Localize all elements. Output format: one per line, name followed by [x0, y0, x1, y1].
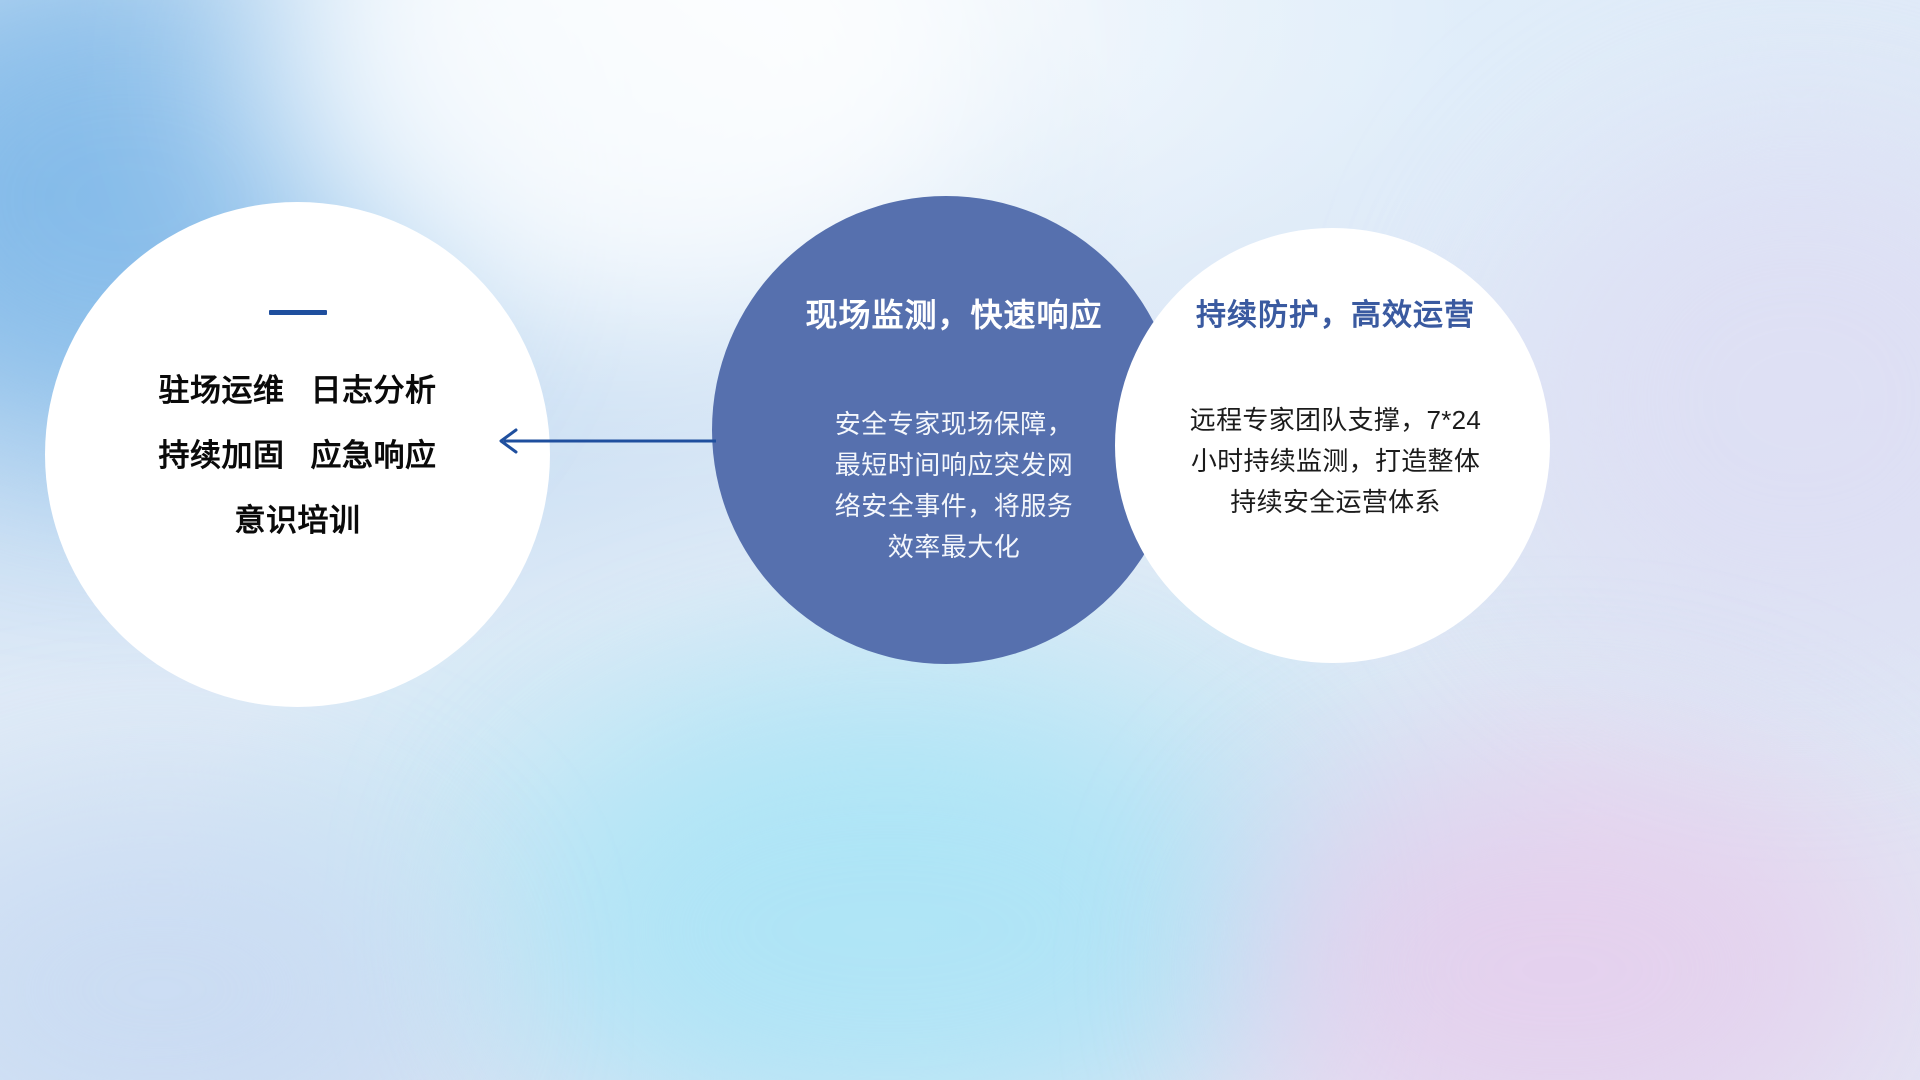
divider-rule-icon	[269, 310, 327, 315]
capability-row-2: 持续加固应急响应	[71, 440, 524, 471]
middle-body-line: 络安全事件，将服务	[758, 486, 1150, 527]
middle-body-line: 安全专家现场保障，	[758, 404, 1150, 445]
right-body-line: 持续安全运营体系	[1133, 482, 1538, 523]
right-circle-content: 持续防护，高效运营 远程专家团队支撑，7*24 小时持续监测，打造整体 持续安全…	[1133, 290, 1538, 523]
middle-body-line: 最短时间响应突发网	[758, 445, 1150, 486]
right-circle-body: 远程专家团队支撑，7*24 小时持续监测，打造整体 持续安全运营体系	[1133, 400, 1538, 523]
background-glow-bottom-left	[0, 820, 440, 1080]
right-body-line: 远程专家团队支撑，7*24	[1133, 400, 1538, 441]
middle-circle-content: 现场监测，快速响应 安全专家现场保障， 最短时间响应突发网 络安全事件，将服务 …	[758, 290, 1150, 568]
middle-circle-heading: 现场监测，快速响应	[758, 290, 1150, 336]
left-circle-content: 驻场运维日志分析 持续加固应急响应 意识培训	[45, 310, 550, 536]
middle-onsite-monitoring-circle[interactable]: 现场监测，快速响应 安全专家现场保障， 最短时间响应突发网 络安全事件，将服务 …	[712, 196, 1180, 664]
right-continuous-protection-circle[interactable]: 持续防护，高效运营 远程专家团队支撑，7*24 小时持续监测，打造整体 持续安全…	[1115, 228, 1550, 663]
arrow-left-icon	[488, 418, 718, 464]
slide-canvas: 驻场运维日志分析 持续加固应急响应 意识培训 现场监测，快速响应 安全专家现场保…	[0, 0, 1920, 1080]
right-body-line: 小时持续监测，打造整体	[1133, 441, 1538, 482]
capability-label-onsite-ops: 驻场运维	[159, 373, 285, 408]
capability-label-continuous-hardening: 持续加固	[159, 438, 285, 473]
capability-row-1: 驻场运维日志分析	[71, 375, 524, 406]
background-glow-bottom-right	[1250, 760, 1870, 1080]
right-circle-heading: 持续防护，高效运营	[1133, 290, 1538, 334]
capability-label-log-analysis: 日志分析	[311, 373, 437, 408]
middle-circle-body: 安全专家现场保障， 最短时间响应突发网 络安全事件，将服务 效率最大化	[758, 404, 1150, 568]
capability-row-3: 意识培训	[71, 505, 524, 536]
left-capability-circle[interactable]: 驻场运维日志分析 持续加固应急响应 意识培训	[45, 202, 550, 707]
capability-label-awareness-training: 意识培训	[235, 503, 361, 538]
background-glow-bottom-center	[520, 700, 1260, 1080]
middle-body-line: 效率最大化	[758, 527, 1150, 568]
capability-label-emergency-response: 应急响应	[311, 438, 437, 473]
background-glow-top-right	[1500, 120, 1920, 680]
